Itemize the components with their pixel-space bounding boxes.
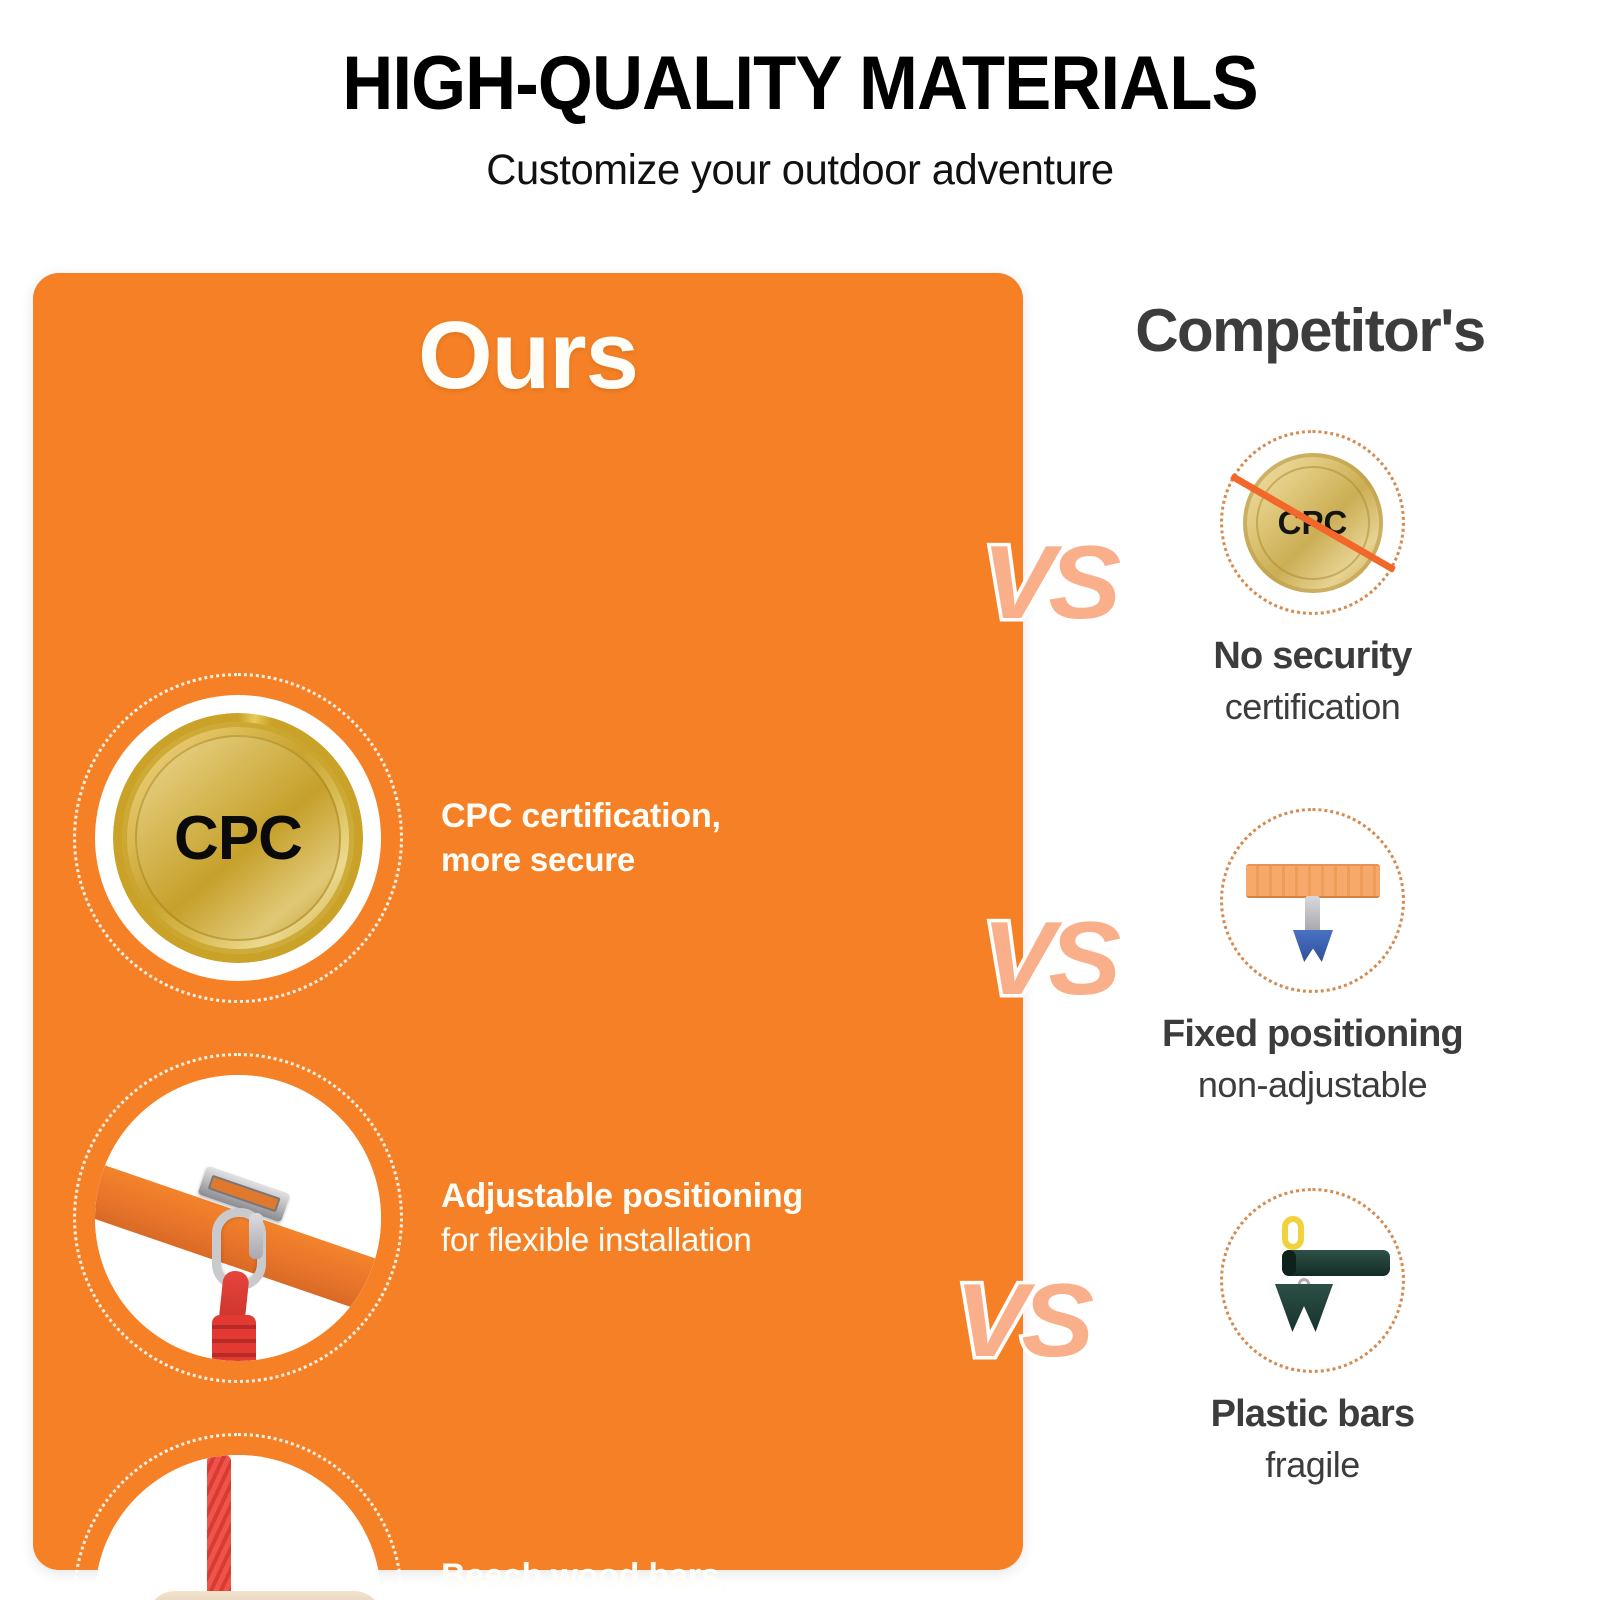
cpc-badge-crossed-out-icon: CPC	[1220, 430, 1405, 615]
ours-feature-text-wood: Beech wood bars, break-resistant	[441, 1555, 729, 1600]
gold-medallion-icon: CPC	[113, 713, 363, 963]
ours-title: Ours	[33, 301, 1023, 411]
ours-feature-text-cpc: CPC certification, more secure	[441, 795, 721, 881]
infographic-root: HIGH-QUALITY MATERIALS Customize your ou…	[0, 0, 1600, 1600]
cpc-badge-circle: CPC	[95, 695, 381, 981]
competitor-headline: No security	[1040, 635, 1585, 678]
ours-feature-headline: Adjustable positioning	[441, 1175, 803, 1219]
ours-panel: Ours CPC CPC certification, more secure	[33, 273, 1023, 1570]
ours-feature-text-adjustable: Adjustable positioning for flexible inst…	[441, 1175, 803, 1261]
red-rope-vertical-icon	[207, 1455, 231, 1600]
strap-carabiner-circle	[95, 1075, 381, 1361]
plastic-bar-cap-icon	[1282, 1250, 1296, 1276]
beech-wood-circle	[95, 1455, 381, 1600]
strap-scene	[95, 1075, 381, 1361]
competitor-headline: Fixed positioning	[1040, 1013, 1585, 1056]
competitor-subline: fragile	[1040, 1444, 1585, 1486]
ours-feature-subline: for flexible installation	[441, 1219, 803, 1261]
ours-feature-row-wood: Beech wood bars, break-resistant	[33, 1433, 1023, 1600]
beech-wood-bar-icon	[147, 1591, 381, 1600]
beech-wood-bar-photo-icon	[73, 1433, 403, 1600]
fixed-strap-hook-icon	[1220, 808, 1405, 993]
vs-badge-1: VS	[982, 524, 1115, 643]
ours-feature-row-cpc: CPC CPC certification, more secure	[33, 673, 1023, 1003]
competitor-row-no-security: CPC No security certification	[1040, 430, 1585, 728]
plastic-bar-icon	[1284, 1250, 1390, 1276]
ours-feature-headline: Beech wood bars,	[441, 1555, 729, 1599]
yellow-chain-link-icon	[1282, 1216, 1304, 1250]
competitor-subline: certification	[1040, 686, 1585, 728]
ours-feature-headline: CPC certification,	[441, 795, 721, 839]
cpc-badge-label: CPC	[113, 713, 363, 963]
competitor-row-fixed-positioning: Fixed positioning non-adjustable	[1040, 808, 1585, 1106]
competitor-strap-icon	[1246, 864, 1380, 898]
competitor-headline: Plastic bars	[1040, 1393, 1585, 1436]
competitor-subline: non-adjustable	[1040, 1064, 1585, 1106]
ours-feature-row-adjustable: Adjustable positioning for flexible inst…	[33, 1053, 1023, 1383]
vs-badge-3: VS	[955, 1262, 1088, 1381]
wood-scene	[95, 1455, 381, 1600]
plastic-bar-bracket-icon	[1220, 1188, 1405, 1373]
page-title: HIGH-QUALITY MATERIALS	[56, 44, 1544, 124]
page-subtitle: Customize your outdoor adventure	[24, 146, 1576, 195]
strap-carabiner-photo-icon	[73, 1053, 403, 1383]
rope-grip-icon	[212, 1315, 256, 1361]
page-header: HIGH-QUALITY MATERIALS Customize your ou…	[0, 44, 1600, 195]
competitor-row-plastic-bars: Plastic bars fragile	[1040, 1188, 1585, 1486]
carabiner-gate-icon	[249, 1213, 263, 1259]
vs-badge-2: VS	[982, 900, 1115, 1019]
ours-feature-subline: more secure	[441, 839, 721, 881]
cpc-gold-badge-icon: CPC	[73, 673, 403, 1003]
dotted-ring-decoration	[1220, 1188, 1405, 1373]
competitor-title: Competitor's	[1030, 296, 1590, 365]
